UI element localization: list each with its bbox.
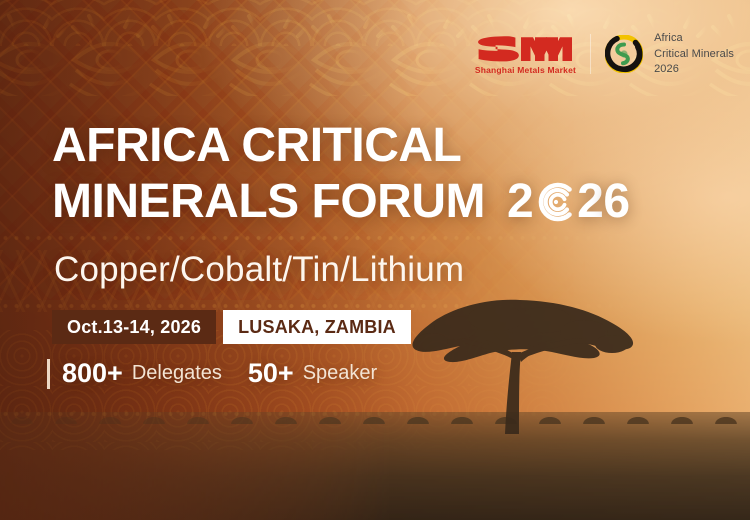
- headline-line-1: AFRICA CRITICAL: [52, 118, 630, 174]
- smm-tagline: Shanghai Metals Market: [475, 66, 576, 75]
- event-brand-lockup[interactable]: Africa Critical Minerals 2026: [605, 31, 734, 78]
- event-stats: 800+ Delegates 50+ Speaker: [47, 358, 377, 389]
- year-digit-3: 2: [577, 174, 603, 230]
- smm-wordmark-icon: [477, 34, 573, 64]
- year-2026: 2 2 6: [507, 174, 630, 230]
- event-badges: Oct.13-14, 2026 LUSAKA, ZAMBIA: [52, 310, 411, 344]
- stat-delegates-value: 800+: [62, 358, 123, 389]
- event-brand-line1: Africa: [654, 31, 734, 47]
- headline-line-2: MINERALS FORUM: [52, 174, 485, 230]
- stat-delegates-label: Delegates: [132, 362, 222, 385]
- location-badge: LUSAKA, ZAMBIA: [223, 310, 411, 344]
- event-brand-line3: 2026: [654, 62, 734, 78]
- date-badge: Oct.13-14, 2026: [52, 310, 216, 344]
- headline-line-2-row: MINERALS FORUM 2 2 6: [52, 174, 630, 230]
- year-digit-4: 6: [603, 174, 629, 230]
- event-banner: Shanghai Metals Market Africa Critical M…: [0, 0, 750, 520]
- stat-speaker-value: 50+: [248, 358, 294, 389]
- page-title: AFRICA CRITICAL MINERALS FORUM 2 2 6: [52, 118, 630, 229]
- event-brand-text: Africa Critical Minerals 2026: [654, 31, 734, 78]
- stat-speaker-label: Speaker: [303, 362, 378, 385]
- africa-critical-minerals-emblem-icon: [605, 35, 643, 73]
- header-logos: Shanghai Metals Market Africa Critical M…: [475, 31, 734, 78]
- spiral-zero-icon: [534, 180, 576, 224]
- subtitle-minerals: Copper/Cobalt/Tin/Lithium: [54, 250, 464, 290]
- header-divider: [590, 34, 591, 74]
- year-digit-1: 2: [507, 174, 533, 230]
- event-brand-line2: Critical Minerals: [654, 47, 734, 63]
- smm-logo[interactable]: Shanghai Metals Market: [475, 34, 576, 75]
- stats-accent-bar: [47, 359, 50, 389]
